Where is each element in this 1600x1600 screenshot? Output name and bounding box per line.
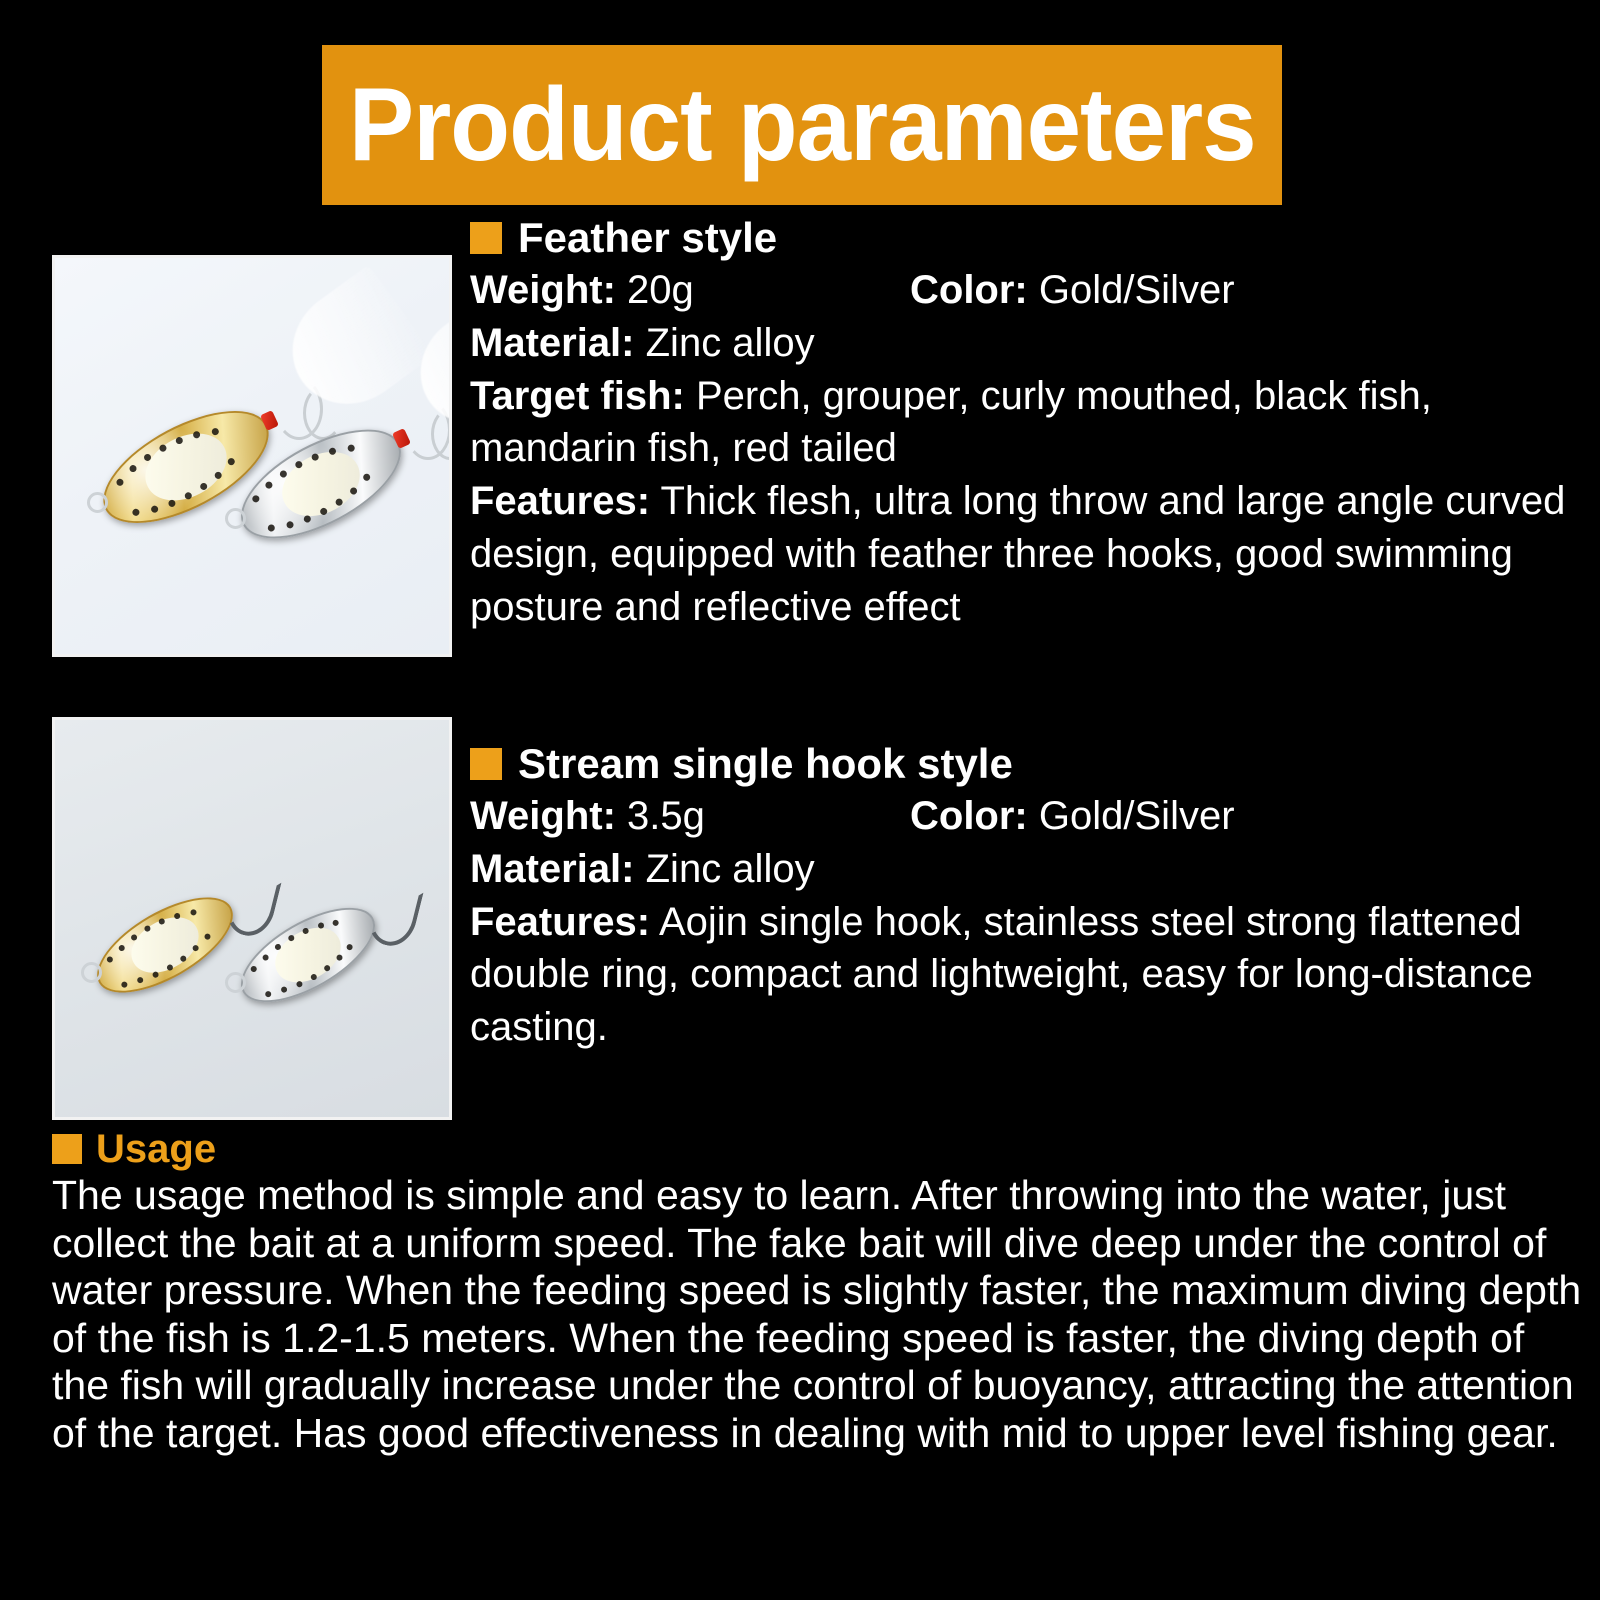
bullet-square-icon: [52, 1134, 82, 1164]
split-ring: [225, 972, 246, 993]
split-ring: [87, 492, 108, 513]
spec-features-label: Features:: [470, 900, 650, 944]
silver-single-hook-lure: [233, 902, 413, 1022]
spec-color: Color: Gold/Silver: [910, 790, 1235, 843]
spec-material-value: Zinc alloy: [646, 321, 815, 365]
spec-block-feather-style: Feather style Weight: 20g Color: Gold/Si…: [470, 216, 1600, 634]
bullet-square-icon: [470, 748, 502, 780]
spec-material-label: Material:: [470, 321, 635, 365]
gold-blade: [83, 878, 248, 1011]
split-ring: [225, 508, 246, 529]
spec-row-material: Material: Zinc alloy: [470, 317, 1600, 370]
usage-heading: Usage: [52, 1128, 1600, 1170]
spec-weight: Weight: 20g: [470, 264, 910, 317]
blade-core: [271, 439, 371, 529]
usage-heading-label: Usage: [96, 1128, 216, 1170]
spec-color-value: Gold/Silver: [1039, 268, 1235, 312]
split-ring: [81, 962, 102, 983]
spec-weight: Weight: 3.5g: [470, 790, 910, 843]
spec-row-target-fish: Target fish: Perch, grouper, curly mouth…: [470, 370, 1600, 476]
usage-section: Usage The usage method is simple and eas…: [52, 1128, 1600, 1457]
spec-row-weight-color: Weight: 20g Color: Gold/Silver: [470, 264, 1600, 317]
usage-body-text: The usage method is simple and easy to l…: [52, 1172, 1582, 1457]
spec-color: Color: Gold/Silver: [910, 264, 1235, 317]
spec-heading-label: Feather style: [518, 216, 777, 260]
spec-row-weight-color: Weight: 3.5g Color: Gold/Silver: [470, 790, 1600, 843]
spec-heading-stream-single-hook-style: Stream single hook style: [470, 742, 1600, 786]
spec-heading-label: Stream single hook style: [518, 742, 1013, 786]
spec-color-value: Gold/Silver: [1039, 794, 1235, 838]
page-title-banner: Product parameters: [322, 45, 1282, 205]
silver-blade: [225, 407, 418, 560]
spec-color-label: Color:: [910, 794, 1028, 838]
product-photo-feather-style: [52, 255, 452, 657]
spec-material-label: Material:: [470, 847, 635, 891]
product-photo-stream-single-hook-style: [52, 717, 452, 1120]
page-title: Product parameters: [349, 73, 1256, 177]
spec-block-stream-single-hook-style: Stream single hook style Weight: 3.5g Co…: [470, 742, 1600, 1054]
spec-color-label: Color:: [910, 268, 1028, 312]
spec-weight-label: Weight:: [470, 794, 616, 838]
spec-row-features: Features: Thick flesh, ultra long throw …: [470, 475, 1600, 633]
spec-row-material: Material: Zinc alloy: [470, 843, 1600, 896]
single-hook: [362, 881, 423, 951]
spec-features-label: Features:: [470, 479, 650, 523]
spec-heading-feather-style: Feather style: [470, 216, 1600, 260]
spec-material-value: Zinc alloy: [646, 847, 815, 891]
silver-feather-lure: [233, 426, 423, 546]
bullet-square-icon: [470, 222, 502, 254]
spec-weight-value: 3.5g: [627, 794, 705, 838]
silver-blade: [227, 889, 390, 1021]
spec-target-fish-label: Target fish:: [470, 374, 685, 418]
spec-row-features: Features: Aojin single hook, stainless s…: [470, 896, 1600, 1054]
spec-weight-value: 20g: [627, 268, 694, 312]
spec-weight-label: Weight:: [470, 268, 616, 312]
